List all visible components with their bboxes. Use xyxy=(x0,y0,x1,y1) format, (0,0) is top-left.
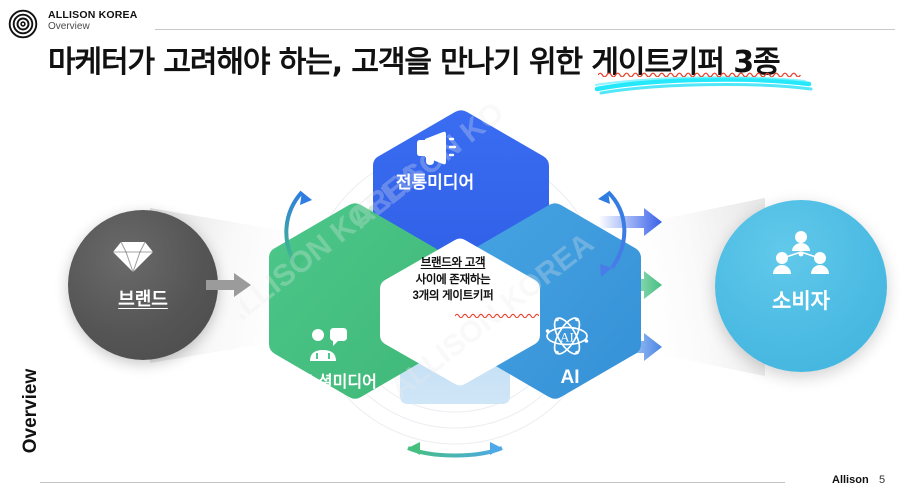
diagram-stage: 브랜드 소비자 xyxy=(0,100,901,480)
footer-divider xyxy=(40,482,785,483)
hexagon-label-social-media: 소셜미디어 xyxy=(265,368,415,392)
people-group-icon xyxy=(772,230,830,278)
center-message-line1: 브랜드와 고객 xyxy=(383,255,523,272)
center-spellcheck-squiggle xyxy=(455,312,539,318)
node-brand-label: 브랜드 xyxy=(68,285,218,311)
brand-name: ALLISON KOREA xyxy=(48,10,138,21)
slide-root: ALLISON KOREA Overview 마케터가 고려해야 하는, 고객을… xyxy=(0,0,901,504)
page-title-plain: 마케터가 고려해야 하는, 고객을 만나기 위한 xyxy=(48,45,591,80)
brand-subtitle: Overview xyxy=(48,22,138,33)
hexagon-label-ai: AI xyxy=(515,367,625,389)
node-consumer-label: 소비자 xyxy=(715,285,887,315)
hexagon-label-traditional-media: 전통미디어 xyxy=(355,168,515,193)
ai-atom-icon: AI xyxy=(543,312,591,360)
footer-page-number: 5 xyxy=(879,474,885,486)
svg-text:AI: AI xyxy=(560,330,574,345)
header-divider xyxy=(155,29,895,30)
spellcheck-squiggle xyxy=(598,71,803,77)
diamond-icon xyxy=(112,240,154,274)
footer-brand: Allison xyxy=(832,474,869,486)
social-user-icon xyxy=(308,327,350,363)
megaphone-icon xyxy=(415,130,457,166)
concentric-circles-logo xyxy=(8,9,38,39)
center-message: 브랜드와 고객 사이에 존재하는 3개의 게이트키퍼 xyxy=(383,255,523,305)
brand-block: ALLISON KOREA Overview xyxy=(48,10,138,33)
center-message-line3: 3개의 게이트키퍼 xyxy=(383,288,523,305)
center-message-line2: 사이에 존재하는 xyxy=(383,272,523,289)
